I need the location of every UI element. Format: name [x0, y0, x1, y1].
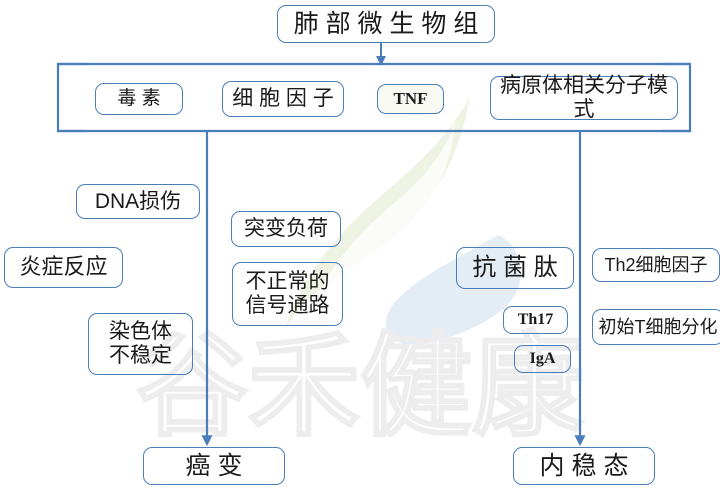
- node-tnf[interactable]: TNF: [377, 84, 444, 114]
- node-abnormal-signaling[interactable]: 不正常的 信号通路: [232, 262, 343, 326]
- connector-lines: [0, 0, 720, 489]
- node-toxins[interactable]: 毒 素: [95, 83, 183, 115]
- node-chromosomal-instability[interactable]: 染色体 不稳定: [88, 313, 193, 375]
- leaf-logo-watermark: [0, 0, 720, 489]
- brand-text-watermark: 谷禾健康: [0, 0, 720, 489]
- node-cytokines[interactable]: 细 胞 因 子: [222, 81, 344, 117]
- node-pamps[interactable]: 病原体相关分子模式: [490, 76, 678, 120]
- node-carcinogenesis[interactable]: 癌 变: [143, 447, 285, 485]
- node-naive-t-differentiation[interactable]: 初始T细胞分化: [592, 309, 720, 345]
- mediator-bracket-left: [58, 64, 86, 131]
- node-lung-microbiome[interactable]: 肺 部 微 生 物 组: [277, 5, 495, 43]
- node-iga[interactable]: IgA: [514, 345, 571, 373]
- node-mutation-burden[interactable]: 突变负荷: [231, 211, 341, 247]
- node-th17[interactable]: Th17: [503, 306, 568, 334]
- node-homeostasis[interactable]: 内 稳 态: [513, 447, 655, 485]
- diagram-canvas: 谷禾健康 肺 部 微 生 物 组 毒 素 细 胞 因 子 TNF 病原体相关分子…: [0, 0, 720, 489]
- svg-text:谷禾健康: 谷禾健康: [136, 324, 584, 449]
- node-dna-damage[interactable]: DNA损伤: [76, 184, 200, 219]
- node-th2-cytokines[interactable]: Th2细胞因子: [592, 248, 720, 282]
- node-antimicrobial-peptides[interactable]: 抗 菌 肽: [456, 247, 574, 289]
- node-inflammatory-response[interactable]: 炎症反应: [4, 247, 123, 288]
